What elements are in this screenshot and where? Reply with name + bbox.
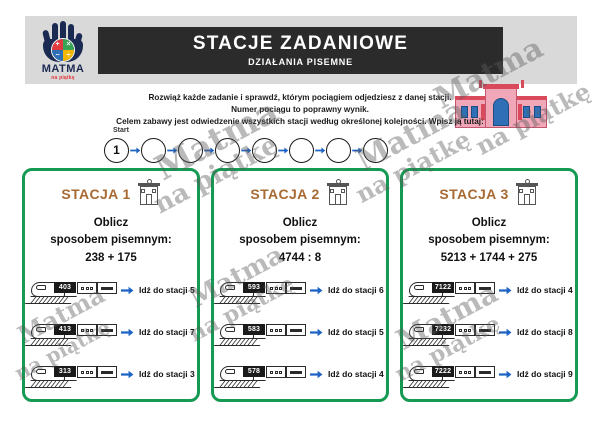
problem-expression: 4744 : 8 (214, 250, 386, 267)
station-building-icon (515, 183, 539, 205)
sequence-circle-empty[interactable] (141, 138, 166, 163)
problem-prompt-line2: sposobem pisemnym: (214, 232, 386, 249)
train-icon: 593 (220, 277, 308, 303)
train-options: 593Idź do stacji 6583Idź do stacji 5578I… (214, 269, 386, 395)
sequence-circle-empty[interactable] (215, 138, 240, 163)
train-icon: 7232 (409, 319, 497, 345)
problem-prompt-line2: sposobem pisemnym: (25, 232, 197, 249)
train-destination: Idź do stacji 8 (517, 327, 573, 337)
start-label: Start (113, 127, 129, 134)
go-arrow-icon (121, 286, 134, 295)
sequence-circle-start[interactable]: 1 (104, 138, 129, 163)
station-sequence-row[interactable]: 1 (104, 136, 504, 164)
train-number: 413 (54, 324, 76, 335)
train-number: 313 (54, 366, 76, 377)
sequence-arrow-icon (166, 147, 178, 154)
station-card-header: STACJA 2 (214, 183, 386, 205)
train-option-row[interactable]: 7122Idź do stacji 4 (403, 269, 575, 311)
train-option-row[interactable]: 413Idź do stacji 7 (25, 311, 197, 353)
matma-logo: + × − ÷ MATMA na piątkę (32, 20, 94, 82)
train-option-row[interactable]: 313Idź do stacji 3 (25, 353, 197, 395)
problem-prompt-line1: Oblicz (214, 215, 386, 232)
go-arrow-icon (310, 328, 323, 337)
train-number: 593 (243, 282, 265, 293)
station-problem: Obliczsposobem pisemnym:238 + 175 (25, 215, 197, 267)
go-arrow-icon (499, 328, 512, 337)
train-number: 583 (243, 324, 265, 335)
station-title: STACJA 2 (250, 186, 319, 202)
problem-prompt-line1: Oblicz (25, 215, 197, 232)
instruction-line-3: Celem zabawy jest odwiedzenie wszystkich… (40, 116, 560, 128)
train-option-row[interactable]: 7222Idź do stacji 9 (403, 353, 575, 395)
train-number: 403 (54, 282, 76, 293)
train-icon: 7222 (409, 361, 497, 387)
sequence-circle-empty[interactable] (289, 138, 314, 163)
train-icon: 313 (31, 361, 119, 387)
train-option-row[interactable]: 403Idź do stacji 5 (25, 269, 197, 311)
problem-expression: 5213 + 1744 + 275 (403, 250, 575, 267)
sequence-arrow-icon (277, 147, 289, 154)
train-icon: 578 (220, 361, 308, 387)
train-number: 7122 (432, 282, 454, 293)
station-card: STACJA 2Obliczsposobem pisemnym:4744 : 8… (211, 168, 389, 402)
sequence-circle-empty[interactable] (326, 138, 351, 163)
station-card-header: STACJA 3 (403, 183, 575, 205)
instructions: Rozwiąż każde zadanie i sprawdź, którym … (40, 92, 560, 128)
train-option-row[interactable]: 578Idź do stacji 4 (214, 353, 386, 395)
station-problem: Obliczsposobem pisemnym:5213 + 1744 + 27… (403, 215, 575, 267)
hand-icon: + × − ÷ (41, 20, 85, 62)
train-icon: 413 (31, 319, 119, 345)
worksheet-page: + × − ÷ MATMA na piątkę STACJE ZADANIOWE… (0, 0, 600, 424)
problem-prompt-line1: Oblicz (403, 215, 575, 232)
logo-subtitle: na piątkę (51, 75, 74, 81)
station-card-header: STACJA 1 (25, 183, 197, 205)
sequence-arrow-icon (203, 147, 215, 154)
train-option-row[interactable]: 583Idź do stacji 5 (214, 311, 386, 353)
sequence-arrow-icon (129, 147, 141, 154)
train-options: 7122Idź do stacji 47232Idź do stacji 872… (403, 269, 575, 395)
train-option-row[interactable]: 593Idź do stacji 6 (214, 269, 386, 311)
train-destination: Idź do stacji 4 (328, 369, 384, 379)
go-arrow-icon (121, 328, 134, 337)
train-destination: Idź do stacji 5 (328, 327, 384, 337)
go-arrow-icon (310, 370, 323, 379)
train-destination: Idź do stacji 4 (517, 285, 573, 295)
instruction-line-2: Numer pociągu to poprawny wynik. (40, 104, 560, 116)
train-number: 7222 (432, 366, 454, 377)
station-card: STACJA 3Obliczsposobem pisemnym:5213 + 1… (400, 168, 578, 402)
sequence-arrow-icon (314, 147, 326, 154)
train-icon: 583 (220, 319, 308, 345)
title-plate: STACJE ZADANIOWE DZIAŁANIA PISEMNE (98, 27, 503, 74)
math-symbols-circle: + × − ÷ (51, 38, 75, 62)
train-destination: Idź do stacji 9 (517, 369, 573, 379)
station-cards: STACJA 1Obliczsposobem pisemnym:238 + 17… (22, 168, 578, 402)
page-title: STACJE ZADANIOWE (193, 34, 408, 55)
station-building-icon (326, 183, 350, 205)
go-arrow-icon (310, 286, 323, 295)
problem-expression: 238 + 175 (25, 250, 197, 267)
station-title: STACJA 3 (439, 186, 508, 202)
train-destination: Idź do stacji 3 (139, 369, 195, 379)
go-arrow-icon (499, 286, 512, 295)
train-destination: Idź do stacji 7 (139, 327, 195, 337)
train-option-row[interactable]: 7232Idź do stacji 8 (403, 311, 575, 353)
train-icon: 403 (31, 277, 119, 303)
sequence-arrow-icon (351, 147, 363, 154)
train-icon: 7122 (409, 277, 497, 303)
go-arrow-icon (499, 370, 512, 379)
train-destination: Idź do stacji 6 (328, 285, 384, 295)
sequence-circle-empty[interactable] (363, 138, 388, 163)
station-building-icon (137, 183, 161, 205)
train-options: 403Idź do stacji 5413Idź do stacji 7313I… (25, 269, 197, 395)
station-problem: Obliczsposobem pisemnym:4744 : 8 (214, 215, 386, 267)
sequence-arrow-icon (240, 147, 252, 154)
train-number: 7232 (432, 324, 454, 335)
go-arrow-icon (121, 370, 134, 379)
sequence-circle-empty[interactable] (252, 138, 277, 163)
station-card: STACJA 1Obliczsposobem pisemnym:238 + 17… (22, 168, 200, 402)
train-number: 578 (243, 366, 265, 377)
problem-prompt-line2: sposobem pisemnym: (403, 232, 575, 249)
train-destination: Idź do stacji 5 (139, 285, 195, 295)
sequence-circle-empty[interactable] (178, 138, 203, 163)
station-title: STACJA 1 (61, 186, 130, 202)
logo-title: MATMA (42, 63, 85, 75)
plus-icon: + (52, 39, 63, 50)
instruction-line-1: Rozwiąż każde zadanie i sprawdź, którym … (40, 92, 560, 104)
page-subtitle: DZIAŁANIA PISEMNE (248, 57, 353, 67)
